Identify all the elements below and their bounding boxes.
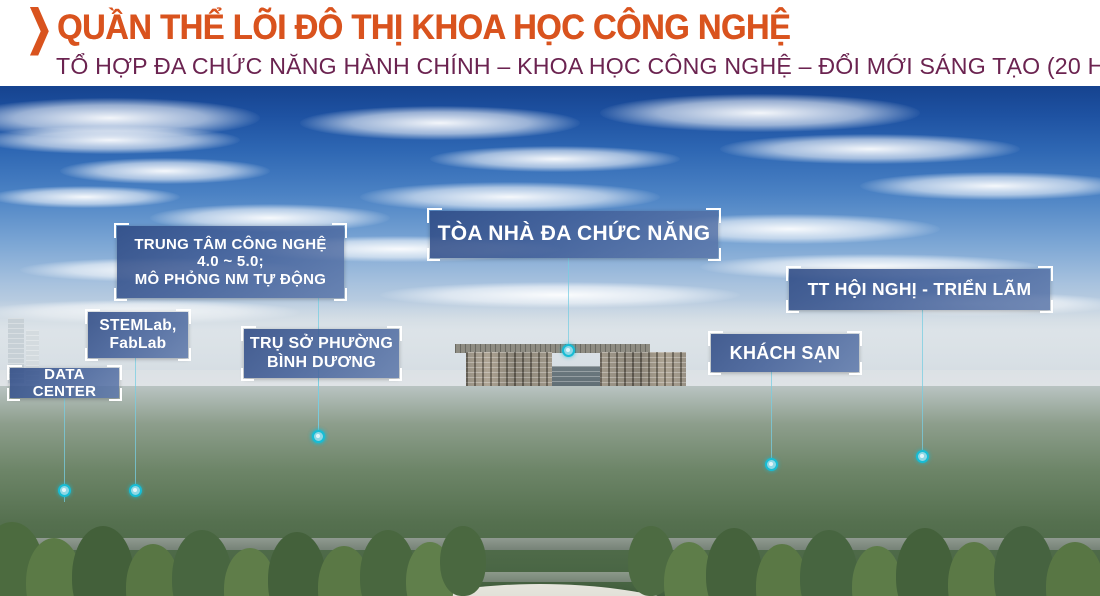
map-marker-tt-hoi-nghi[interactable]: [916, 450, 929, 463]
leader-line-khach-san: [771, 370, 772, 464]
callout-khach-san[interactable]: KHÁCH SẠN: [711, 334, 859, 372]
callout-label: KHÁCH SẠN: [726, 343, 845, 364]
callout-label: TÒA NHÀ ĐA CHỨC NĂNG: [434, 222, 715, 246]
leader-line-stemlab: [135, 358, 136, 490]
map-marker-toa-nha[interactable]: [562, 344, 575, 357]
map-marker-stemlab[interactable]: [129, 484, 142, 497]
callout-stemlab-fablab[interactable]: STEMLab, FabLab: [88, 312, 188, 358]
callout-data-center[interactable]: DATA CENTER: [10, 368, 119, 398]
callout-trung-tam-cong-nghe[interactable]: TRUNG TÂM CÔNG NGHỆ 4.0 ~ 5.0; MÔ PHỎNG …: [117, 226, 344, 298]
callout-label: TT HỘI NGHỊ - TRIỂN LÃM: [804, 279, 1036, 299]
callout-toa-nha-da-chuc-nang[interactable]: TÒA NHÀ ĐA CHỨC NĂNG: [430, 211, 718, 258]
tree: [440, 526, 486, 596]
page-title: QUẦN THỂ LÕI ĐÔ THỊ KHOA HỌC CÔNG NGHỆ: [57, 8, 790, 48]
page-subtitle: TỔ HỢP ĐA CHỨC NĂNG HÀNH CHÍNH – KHOA HỌ…: [56, 53, 1100, 80]
map-marker-data-center[interactable]: [58, 484, 71, 497]
callout-label: STEMLab, FabLab: [95, 317, 180, 353]
map-marker-tru-so[interactable]: [312, 430, 325, 443]
callout-label: TRUNG TÂM CÔNG NGHỆ 4.0 ~ 5.0; MÔ PHỎNG …: [130, 236, 330, 288]
callout-tru-so-phuong[interactable]: TRỤ SỞ PHƯỜNG BÌNH DƯƠNG: [244, 329, 399, 378]
title-arrow-icon: ❯: [26, 4, 50, 51]
header-banner: ❯ QUẦN THỂ LÕI ĐÔ THỊ KHOA HỌC CÔNG NGHỆ…: [0, 0, 1100, 86]
callout-label: TRỤ SỞ PHƯỜNG BÌNH DƯƠNG: [246, 335, 397, 372]
title-row: ❯ QUẦN THỂ LÕI ĐÔ THỊ KHOA HỌC CÔNG NGHỆ: [26, 8, 845, 48]
architectural-render-image: DATA CENTER STEMLab, FabLab TRUNG TÂM CÔ…: [0, 86, 1100, 596]
map-marker-khach-san[interactable]: [765, 458, 778, 471]
leader-line-tt-hoi-nghi: [922, 310, 923, 456]
callout-tt-hoi-nghi-trien-lam[interactable]: TT HỘI NGHỊ - TRIỂN LÃM: [789, 269, 1050, 310]
leader-line-toa-nha: [568, 258, 569, 348]
callout-label: DATA CENTER: [10, 366, 119, 401]
leader-line-tru-so: [318, 378, 319, 436]
